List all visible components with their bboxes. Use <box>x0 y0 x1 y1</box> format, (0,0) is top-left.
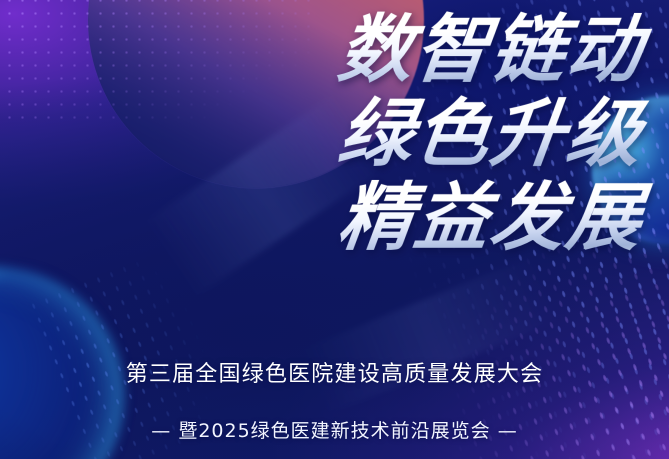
headline-line-3: 精益发展 <box>0 172 659 264</box>
headline-line-2: 绿色升级 <box>0 88 659 180</box>
conference-subtitle: 第三届全国绿色医院建设高质量发展大会 <box>0 356 669 388</box>
headline-block: 数智链动 绿色升级 精益发展 <box>0 4 653 264</box>
conference-poster: 数智链动 绿色升级 精益发展 第三届全国绿色医院建设高质量发展大会 — 暨202… <box>0 0 669 459</box>
subtitle-block: 第三届全国绿色医院建设高质量发展大会 — 暨2025绿色医建新技术前沿展览会 — <box>0 356 669 443</box>
headline-line-1: 数智链动 <box>0 4 659 96</box>
exhibition-tagline: — 暨2025绿色医建新技术前沿展览会 — <box>0 416 669 443</box>
